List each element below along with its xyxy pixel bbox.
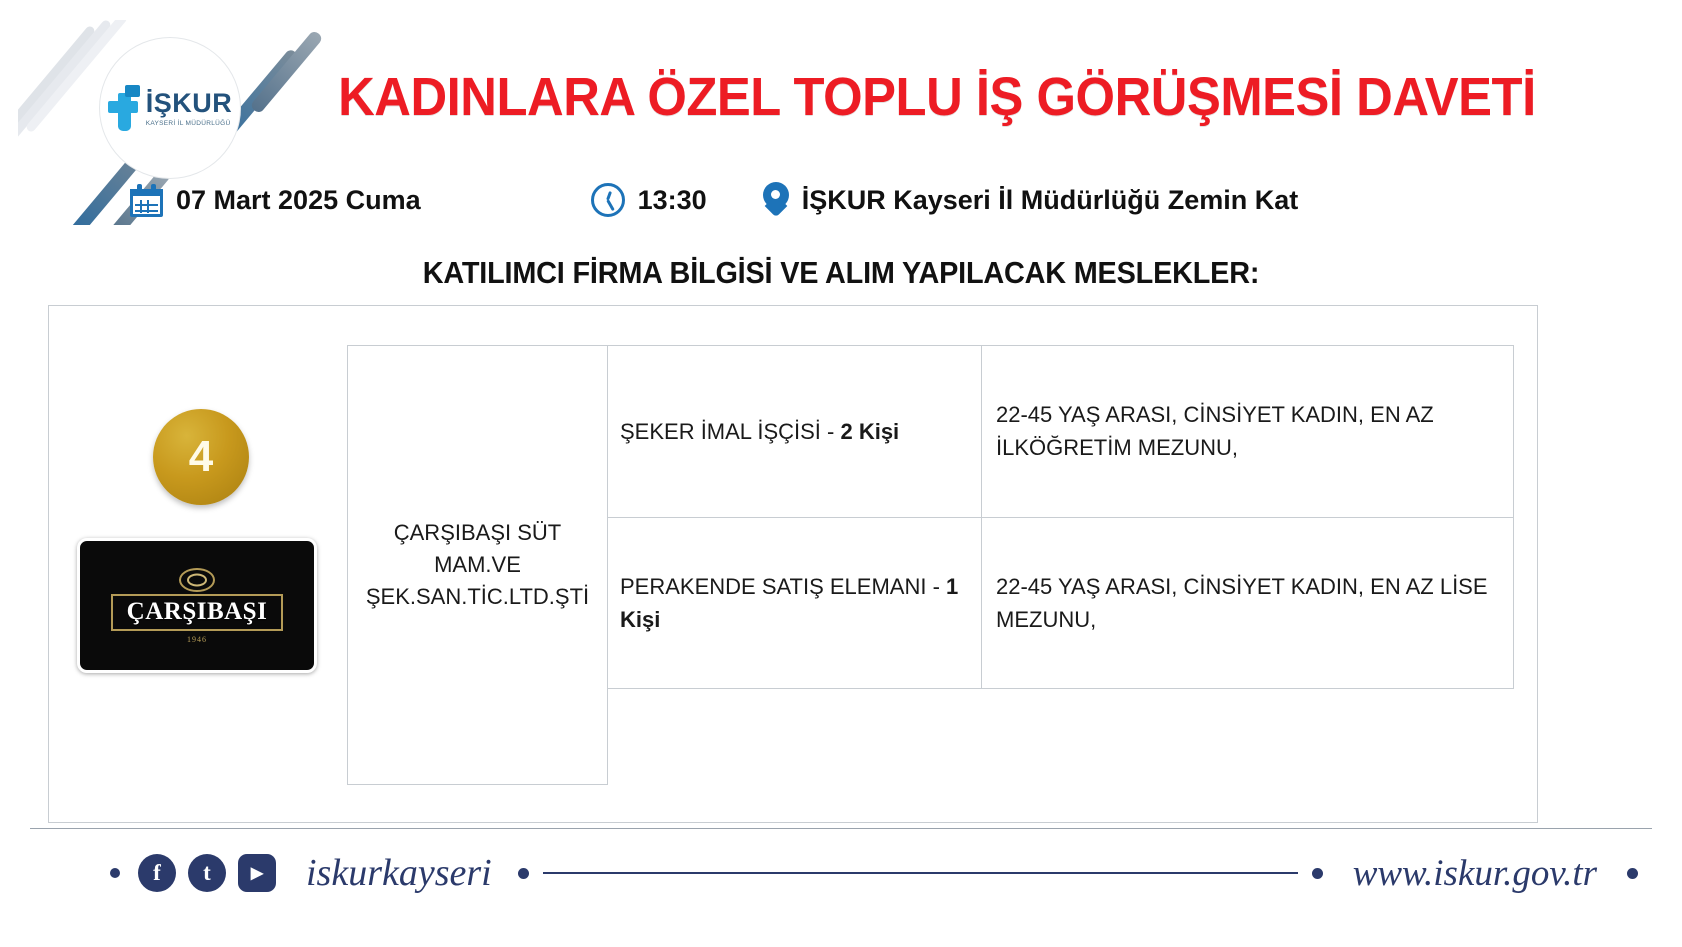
footer: f t ▶ iskurkayseri www.iskur.gov.tr (30, 829, 1652, 917)
iskur-logo-subtitle: KAYSERİ İL MÜDÜRLÜĞÜ (146, 120, 233, 127)
event-date-text: 07 Mart 2025 Cuma (176, 185, 421, 216)
map-pin-icon (763, 182, 789, 218)
job-requirements-cell: 22-45 YAŞ ARASI, CİNSİYET KADIN, EN AZ İ… (982, 346, 1514, 518)
event-location: İŞKUR Kayseri İl Müdürlüğü Zemin Kat (763, 182, 1299, 218)
social-links: f t ▶ iskurkayseri (110, 851, 543, 895)
table-row: ÇARŞIBAŞI SÜT MAM.VE ŞEK.SAN.TİC.LTD.ŞTİ… (348, 346, 1514, 518)
company-name-cell: ÇARŞIBAŞI SÜT MAM.VE ŞEK.SAN.TİC.LTD.ŞTİ (348, 346, 608, 785)
event-time: 13:30 (591, 183, 707, 217)
bullet-dot-icon (1312, 868, 1323, 879)
event-time-text: 13:30 (638, 185, 707, 216)
poster: İŞKUR KAYSERİ İL MÜDÜRLÜĞÜ KADINLARA ÖZE… (0, 0, 1682, 947)
page-title: KADINLARA ÖZEL TOPLU İŞ GÖRÜŞMESİ DAVETİ (338, 66, 1532, 128)
rosette-ornament-icon (176, 567, 218, 593)
jobs-table: ÇARŞIBAŞI SÜT MAM.VE ŞEK.SAN.TİC.LTD.ŞTİ… (347, 345, 1514, 785)
company-badge-number: 4 (153, 409, 249, 505)
empty-cell (608, 689, 982, 785)
company-name-line1: ÇARŞIBAŞI SÜT (362, 517, 593, 549)
job-requirements-cell: 22-45 YAŞ ARASI, CİNSİYET KADIN, EN AZ L… (982, 517, 1514, 689)
bullet-dot-icon (110, 868, 120, 878)
company-logo-year: 1946 (187, 635, 207, 644)
company-name-line3: ŞEK.SAN.TİC.LTD.ŞTİ (362, 581, 593, 613)
footer-rule (543, 872, 1298, 874)
iskur-logo: İŞKUR KAYSERİ İL MÜDÜRLÜĞÜ (100, 38, 240, 178)
company-name-line2: MAM.VE (362, 549, 593, 581)
iskur-mark-icon (108, 85, 142, 131)
job-role-count: 2 Kişi (840, 419, 899, 444)
job-role-title: PERAKENDE SATIŞ ELEMANI - (620, 574, 946, 599)
calendar-icon (130, 184, 163, 217)
facebook-icon[interactable]: f (138, 854, 176, 892)
empty-cell (982, 689, 1514, 785)
event-location-text: İŞKUR Kayseri İl Müdürlüğü Zemin Kat (802, 185, 1299, 216)
youtube-icon[interactable]: ▶ (238, 854, 276, 892)
event-info-row: 07 Mart 2025 Cuma 13:30 İŞKUR Kayseri İl… (130, 182, 1550, 218)
iskur-logo-name: İŞKUR (146, 90, 233, 117)
company-logo-word: ÇARŞIBAŞI (111, 594, 284, 631)
event-date: 07 Mart 2025 Cuma (130, 184, 421, 217)
job-role-cell: PERAKENDE SATIŞ ELEMANI - 1 Kişi (608, 517, 982, 689)
job-role-title: ŞEKER İMAL İŞÇİSİ - (620, 419, 840, 444)
section-subtitle: KATILIMCI FİRMA BİLGİSİ VE ALIM YAPILACA… (59, 255, 1623, 291)
job-role-cell: ŞEKER İMAL İŞÇİSİ - 2 Kişi (608, 346, 982, 518)
company-logo: ÇARŞIBAŞI 1946 (77, 538, 317, 673)
clock-icon (591, 183, 625, 217)
social-handle: iskurkayseri (306, 851, 492, 895)
bullet-dot-icon (518, 868, 529, 879)
bullet-dot-icon (1627, 868, 1638, 879)
twitter-icon[interactable]: t (188, 854, 226, 892)
website-url[interactable]: www.iskur.gov.tr (1353, 852, 1597, 895)
